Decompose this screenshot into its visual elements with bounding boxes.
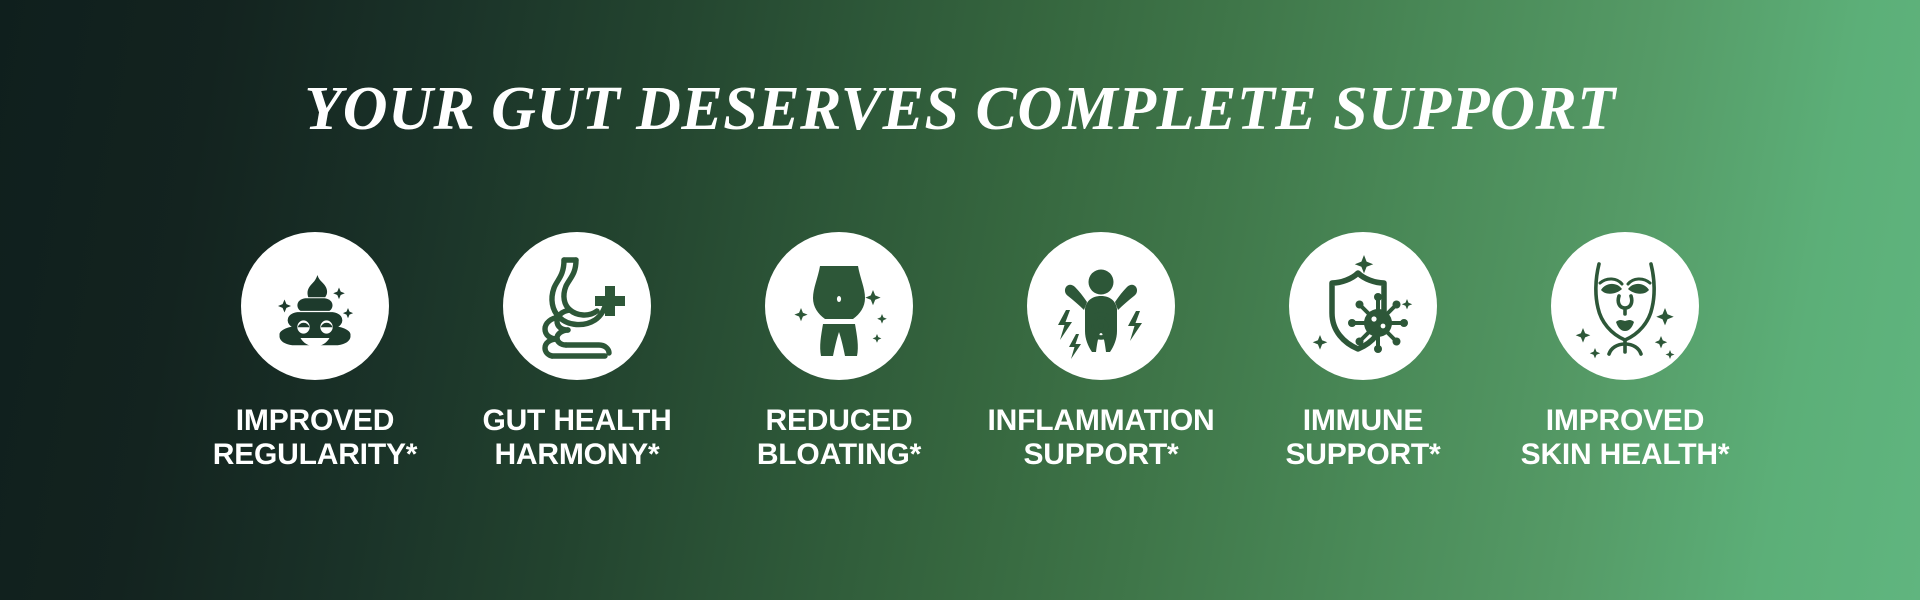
benefit-item-improved-regularity: IMPROVED REGULARITY* — [190, 232, 440, 471]
benefit-label: IMMUNE SUPPORT* — [1285, 404, 1440, 471]
smiling-poop-icon — [263, 254, 367, 358]
benefit-label: INFLAMMATION SUPPORT* — [988, 404, 1215, 471]
icon-circle-gut-health-harmony — [503, 232, 651, 380]
stomach-medical-cross-icon — [521, 250, 633, 362]
page-title: YOUR GUT DESERVES COMPLETE SUPPORT — [0, 78, 1920, 140]
icon-circle-reduced-bloating — [765, 232, 913, 380]
benefit-item-gut-health-harmony: GUT HEALTH HARMONY* — [452, 232, 702, 471]
benefit-label: IMPROVED REGULARITY* — [213, 404, 417, 471]
benefit-item-improved-skin-health: IMPROVED SKIN HEALTH* — [1500, 232, 1750, 471]
benefit-item-reduced-bloating: REDUCED BLOATING* — [714, 232, 964, 471]
benefit-label: IMPROVED SKIN HEALTH* — [1521, 404, 1730, 471]
woman-face-glow-icon — [1569, 250, 1681, 362]
icon-circle-improved-skin-health — [1551, 232, 1699, 380]
benefits-row: IMPROVED REGULARITY* — [190, 232, 1750, 471]
benefit-item-inflammation-support: INFLAMMATION SUPPORT* — [976, 232, 1226, 471]
slim-waist-torso-icon — [785, 252, 893, 360]
benefit-label: REDUCED BLOATING* — [757, 404, 921, 471]
person-arms-raised-lightning-icon — [1046, 251, 1156, 361]
icon-circle-improved-regularity — [241, 232, 389, 380]
benefit-item-immune-support: IMMUNE SUPPORT* — [1238, 232, 1488, 471]
icon-circle-inflammation-support — [1027, 232, 1175, 380]
benefit-label: GUT HEALTH HARMONY* — [482, 404, 671, 471]
icon-circle-immune-support — [1289, 232, 1437, 380]
shield-virus-icon — [1308, 251, 1418, 361]
gut-support-banner: YOUR GUT DESERVES COMPLETE SUPPORT — [0, 0, 1920, 600]
